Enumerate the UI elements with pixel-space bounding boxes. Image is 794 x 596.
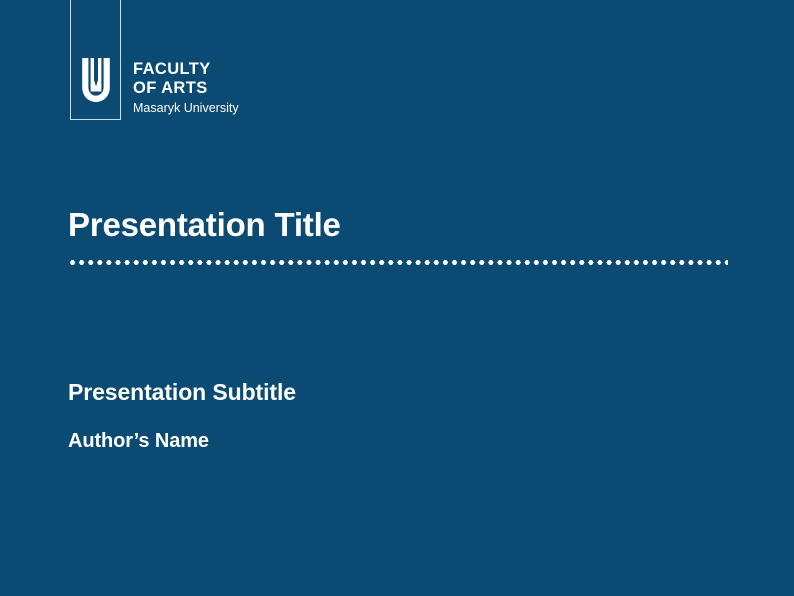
mu-monogram-icon [81, 58, 111, 103]
presentation-title-slide: FACULTY OF ARTS Masaryk University Prese… [0, 0, 794, 596]
faculty-logo: FACULTY OF ARTS Masaryk University [70, 0, 320, 121]
logo-department-line: OF ARTS [133, 79, 323, 98]
page-subtitle: Presentation Subtitle [68, 377, 296, 407]
logo-university-line: Masaryk University [133, 100, 323, 117]
dotted-divider [68, 260, 728, 265]
logo-faculty-line: FACULTY [133, 60, 323, 79]
page-title: Presentation Title [68, 205, 341, 245]
author-name: Author’s Name [68, 427, 209, 455]
logo-wordmark: FACULTY OF ARTS Masaryk University [133, 60, 323, 117]
